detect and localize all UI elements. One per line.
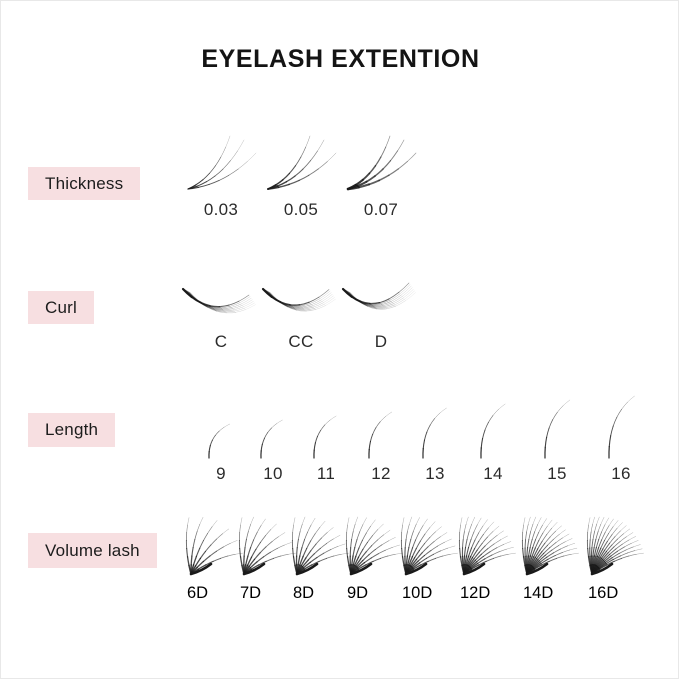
row-length: 910111213141516 [191,389,661,484]
lash-single-strand-icon [204,421,238,461]
lash-sample-caption: 0.07 [342,201,420,218]
lash-sample-caption: 0.05 [262,201,340,218]
lash-sample-volume-10d: 10D [402,508,468,603]
lash-sample-volume-12d: 12D [460,508,526,603]
lash-sample-caption: 9 [204,465,238,482]
lash-single-strand-icon [256,417,290,461]
row-thickness: 0.030.050.07 [179,121,429,241]
lash-sample-length-14: 14 [476,401,510,482]
lash-sample-caption: C [179,333,263,350]
section-label-volume-lash: Volume lash [28,533,157,568]
lash-sample-length-11: 11 [309,413,343,482]
lash-sample-length-10: 10 [256,417,290,482]
lash-volume-fan-icon [523,508,589,580]
lash-sample-caption: 12 [364,465,398,482]
lash-sample-caption: 14D [523,584,589,603]
lash-sample-caption: 13 [418,465,452,482]
lash-sample-caption: 14 [476,465,510,482]
eyelash-extension-chart: EYELASH EXTENTION Thickness 0.030.050.07… [0,0,679,679]
lash-sample-length-12: 12 [364,409,398,482]
lash-curl-sweep-icon [259,273,343,329]
lash-volume-fan-icon [402,508,468,580]
lash-volume-fan-icon [460,508,526,580]
lash-curl-sweep-icon [339,273,423,329]
lash-sample-caption: D [339,333,423,350]
lash-sample-caption: 10 [256,465,290,482]
lash-three-strand-fan-icon [182,133,260,195]
lash-volume-fan-icon [588,508,654,580]
lash-sample-length-13: 13 [418,405,452,482]
lash-sample-caption: 10D [402,584,468,603]
lash-single-strand-icon [476,401,510,461]
lash-three-strand-fan-icon [262,133,340,195]
lash-sample-caption: 15 [540,465,574,482]
lash-sample-volume-16d: 16D [588,508,654,603]
lash-sample-caption: 0.03 [182,201,260,218]
lash-sample-length-15: 15 [540,397,574,482]
lash-sample-volume-14d: 14D [523,508,589,603]
lash-sample-curl-cc: CC [259,273,343,350]
lash-single-strand-icon [604,393,638,461]
lash-sample-length-9: 9 [204,421,238,482]
row-volume: 6D7D8D9D10D12D14D16D [189,506,659,611]
section-label-length: Length [28,413,115,447]
lash-three-strand-fan-icon [342,133,420,195]
lash-sample-curl-c: C [179,273,263,350]
lash-sample-caption: CC [259,333,343,350]
lash-sample-caption: 16D [588,584,654,603]
lash-sample-caption: 16 [604,465,638,482]
lash-sample-thickness-0-05: 0.05 [262,133,340,218]
lash-sample-length-16: 16 [604,393,638,482]
lash-sample-caption: 11 [309,465,343,482]
section-label-thickness: Thickness [28,167,140,200]
lash-sample-thickness-0-03: 0.03 [182,133,260,218]
lash-sample-curl-d: D [339,273,423,350]
lash-sample-thickness-0-07: 0.07 [342,133,420,218]
lash-single-strand-icon [540,397,574,461]
lash-single-strand-icon [364,409,398,461]
lash-curl-sweep-icon [179,273,263,329]
section-label-curl: Curl [28,291,94,324]
lash-sample-caption: 12D [460,584,526,603]
page-title: EYELASH EXTENTION [1,45,679,74]
lash-single-strand-icon [309,413,343,461]
row-curl: CCCD [176,269,426,361]
lash-single-strand-icon [418,405,452,461]
